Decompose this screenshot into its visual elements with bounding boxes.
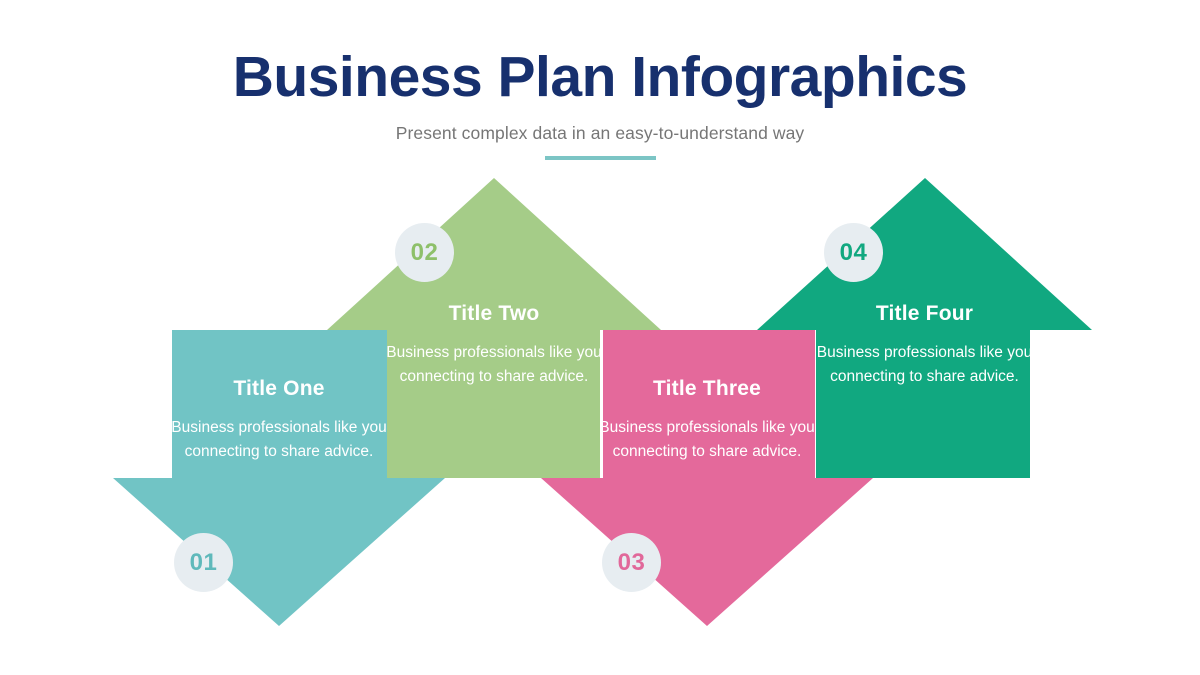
card-2-number: 02 [411, 239, 439, 267]
card-4-description: Business professionals like you connecti… [815, 341, 1034, 389]
card-4-number-badge[interactable]: 04 [824, 223, 883, 282]
title-divider [545, 156, 656, 160]
card-4-text-block: Title Four Business professionals like y… [757, 302, 1092, 389]
card-3-number-badge[interactable]: 03 [602, 533, 661, 592]
infographic-card-4[interactable]: Title Four Business professionals like y… [757, 178, 1092, 478]
card-2-title: Title Two [385, 302, 603, 326]
page-subtitle: Present complex data in an easy-to-under… [0, 123, 1200, 144]
card-1-number-badge[interactable]: 01 [174, 533, 233, 592]
card-1-number: 01 [190, 549, 218, 577]
card-2-number-badge[interactable]: 02 [395, 223, 454, 282]
infographic-slide: Business Plan Infographics Present compl… [0, 0, 1200, 675]
card-4-number: 04 [840, 239, 868, 267]
card-3-number: 03 [618, 549, 646, 577]
card-4-title: Title Four [815, 302, 1034, 326]
page-title: Business Plan Infographics [0, 46, 1200, 110]
slide-header: Business Plan Infographics Present compl… [0, 0, 1200, 144]
